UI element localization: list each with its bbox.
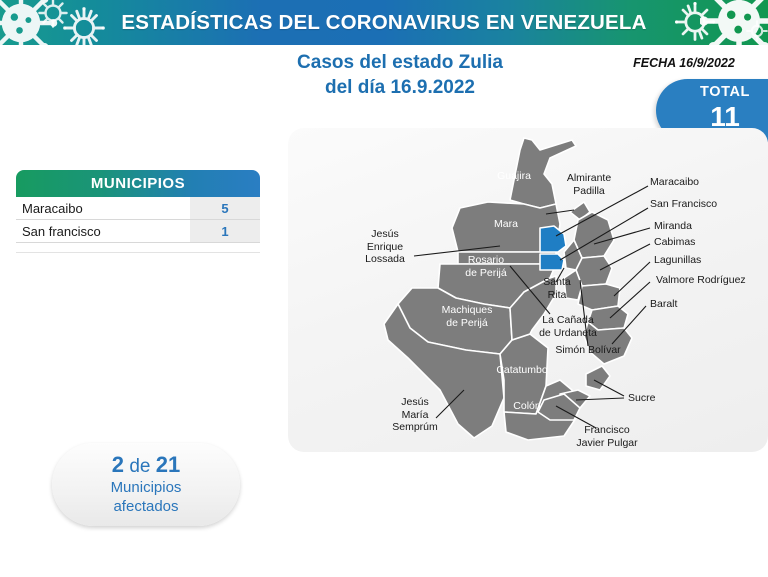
municipios-card: MUNICIPIOS Maracaibo 5 San francisco 1 <box>16 170 260 253</box>
table-row[interactable]: San francisco 1 <box>16 220 260 243</box>
map-label-catatumbo: Catatumbo <box>480 364 564 377</box>
map-label-francisco-javier-pulgar: Francisco Javier Pulgar <box>564 424 650 449</box>
page-title: ESTADÍSTICAS DEL CORONAVIRUS EN VENEZUEL… <box>0 0 768 45</box>
total-label: TOTAL <box>656 83 768 101</box>
map-label-rosario-de-perija: Rosario de Perijá <box>448 254 524 279</box>
map-label-mara: Mara <box>476 218 536 231</box>
afectados-line-3: afectados <box>113 497 178 516</box>
map-region-maracaibo-highlight[interactable] <box>540 226 566 252</box>
afectados-total: 21 <box>156 452 180 477</box>
map-label-la-canada-de-urdaneta: La Cañada de Urdaneta <box>516 314 620 339</box>
map-label-cabimas: Cabimas <box>654 236 695 249</box>
table-row[interactable]: Maracaibo 5 <box>16 197 260 220</box>
municipio-cases: 5 <box>190 197 260 220</box>
municipio-name: Maracaibo <box>16 197 190 220</box>
map-region-miranda[interactable] <box>574 212 614 258</box>
map-label-valmore-rodriguez: Valmore Rodríguez <box>656 274 746 287</box>
afectados-line-2: Municipios <box>111 478 182 497</box>
map-label-colon: Colón <box>500 400 554 413</box>
subtitle-line-2: del día 16.9.2022 <box>220 75 580 100</box>
map-label-santa-rita: Santa Rita <box>534 276 580 301</box>
subtitle-line-1: Casos del estado Zulia <box>220 50 580 75</box>
map-label-jesus-maria-semprum: Jesús María Semprúm <box>380 396 450 434</box>
map-label-baralt: Baralt <box>650 298 677 311</box>
header-banner: ESTADÍSTICAS DEL CORONAVIRUS EN VENEZUEL… <box>0 0 768 45</box>
subtitle: Casos del estado Zulia del día 16.9.2022 <box>220 50 580 100</box>
afectados-count: 2 <box>112 452 124 477</box>
map-label-machiques-de-perija: Machiques de Perijá <box>424 304 510 329</box>
afectados-connector: de <box>129 456 150 477</box>
map-label-lagunillas: Lagunillas <box>654 254 701 267</box>
map-region-cabimas[interactable] <box>576 256 612 286</box>
map-label-almirante-padilla: Almirante Padilla <box>546 172 632 197</box>
afectados-badge: 2 de 21 Municipios afectados <box>52 443 240 526</box>
map-label-san-francisco: San Francisco <box>650 198 717 211</box>
map-label-guajira: Guajira <box>484 170 544 183</box>
municipios-table: Maracaibo 5 San francisco 1 <box>16 197 260 243</box>
map-label-jesus-enrique-lossada: Jesús Enrique Lossada <box>350 228 420 266</box>
poster-root: ESTADÍSTICAS DEL CORONAVIRUS EN VENEZUEL… <box>0 0 768 577</box>
municipio-cases: 1 <box>190 220 260 243</box>
map-label-miranda: Miranda <box>654 220 692 233</box>
afectados-ratio: 2 de 21 <box>112 453 180 478</box>
map-label-maracaibo: Maracaibo <box>650 176 699 189</box>
municipios-header: MUNICIPIOS <box>16 170 260 197</box>
municipio-name: San francisco <box>16 220 190 243</box>
map-panel: Guajira Mara Rosario de Perijá Machiques… <box>288 128 768 452</box>
map-label-simon-bolivar: Simón Bolívar <box>544 344 632 357</box>
map-label-sucre: Sucre <box>628 392 655 405</box>
map-region-san-francisco-highlight[interactable] <box>540 254 564 270</box>
fecha-label: FECHA 16/9/2022 <box>610 56 758 70</box>
table-footer-strip <box>16 243 260 253</box>
